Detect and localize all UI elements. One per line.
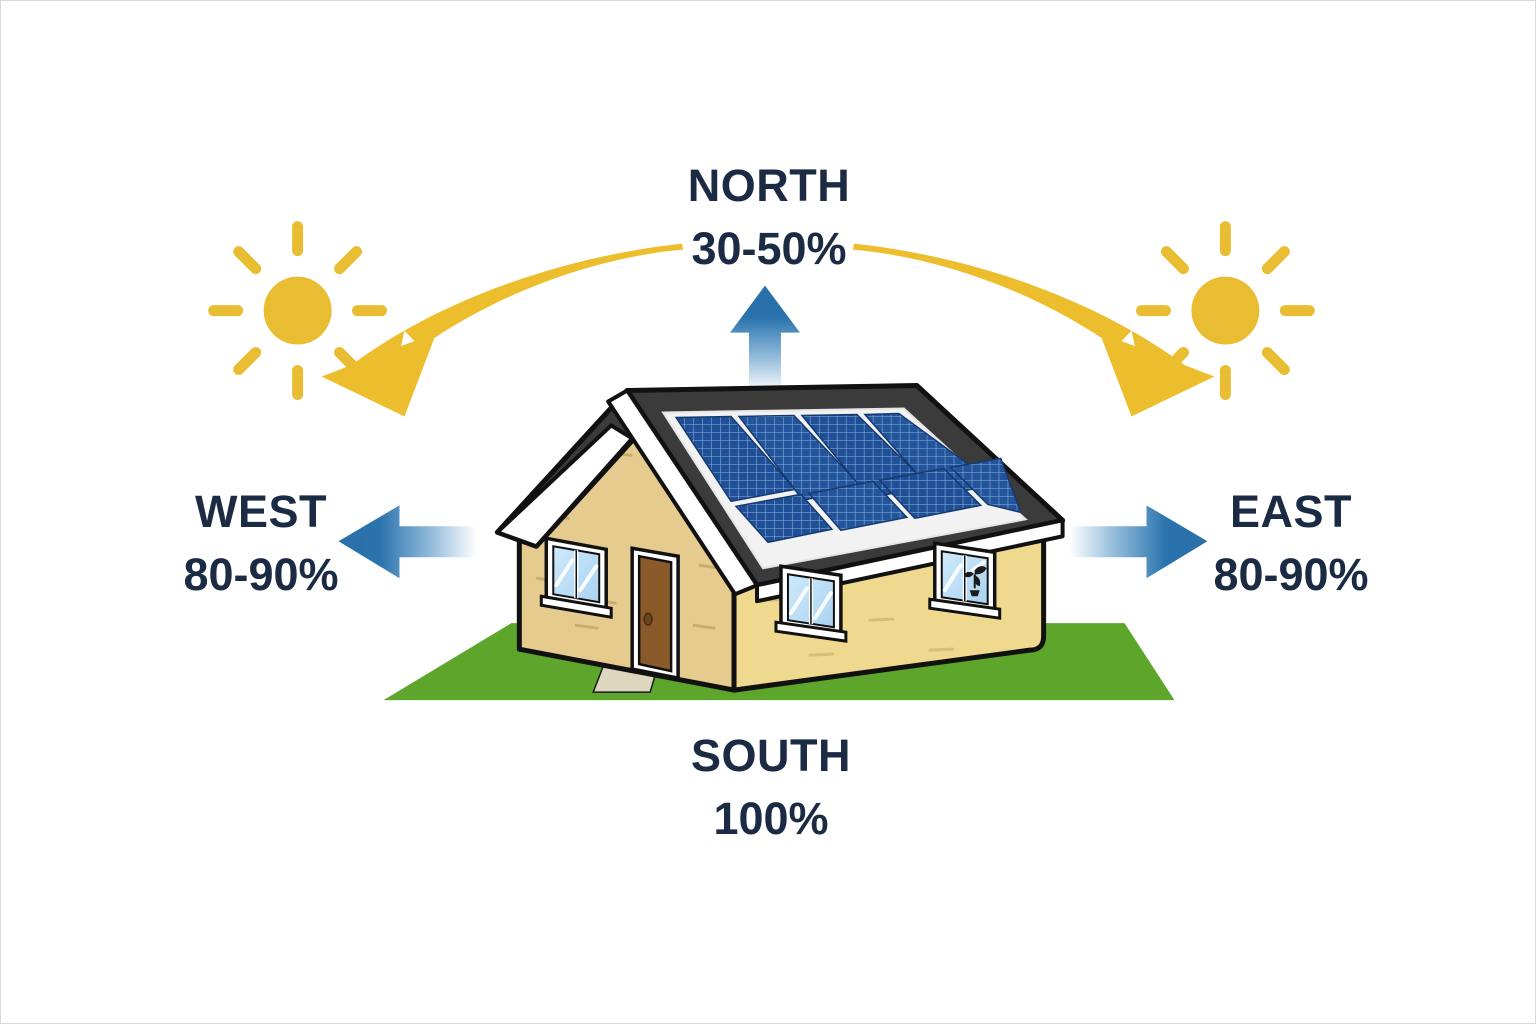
label-west: WEST 80-90% — [141, 489, 381, 597]
label-north: NORTH 30-50% — [609, 163, 929, 271]
label-west-name: WEST — [141, 489, 381, 534]
label-north-value: 30-50% — [609, 226, 929, 271]
window-side-left — [776, 566, 846, 641]
label-south: SOUTH 100% — [641, 733, 901, 841]
diagram-canvas: NORTH 30-50% WEST 80-90% EAST 80-90% SOU… — [0, 0, 1536, 1024]
label-south-name: SOUTH — [641, 733, 901, 778]
window-front — [541, 538, 611, 617]
window-side-right — [930, 543, 1000, 618]
label-east: EAST 80-90% — [1171, 489, 1411, 597]
house-with-solar-panels-icon — [383, 385, 1174, 700]
arrow-up-icon — [730, 286, 800, 393]
label-south-value: 100% — [641, 796, 901, 841]
label-west-value: 80-90% — [141, 552, 381, 597]
label-east-name: EAST — [1171, 489, 1411, 534]
front-door — [632, 548, 678, 678]
label-east-value: 80-90% — [1171, 552, 1411, 597]
label-north-name: NORTH — [609, 163, 929, 208]
